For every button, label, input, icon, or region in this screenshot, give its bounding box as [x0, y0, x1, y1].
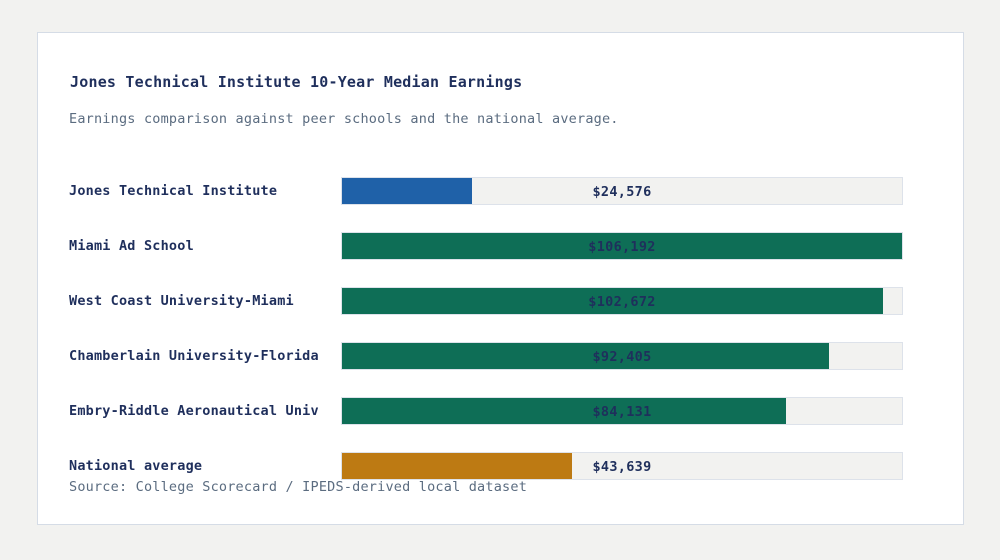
bar-value-label: $43,639: [342, 453, 902, 481]
page-title: Jones Technical Institute 10-Year Median…: [70, 73, 522, 91]
bar-value-label: $84,131: [342, 398, 902, 426]
bar-row: Jones Technical Institute$24,576: [38, 177, 963, 205]
bar-value-label: $92,405: [342, 343, 902, 371]
bar-row: Embry-Riddle Aeronautical Univ$84,131: [38, 397, 963, 425]
bar-value-label: $106,192: [342, 233, 902, 261]
bar-row-label: Chamberlain University-Florida: [69, 342, 341, 370]
bar-value-label: $24,576: [342, 178, 902, 206]
bar-track: $102,672: [341, 287, 903, 315]
bar-track: $43,639: [341, 452, 903, 480]
bar-track: $106,192: [341, 232, 903, 260]
chart-subtitle: Earnings comparison against peer schools…: [69, 111, 619, 127]
chart-card: Jones Technical Institute 10-Year Median…: [37, 32, 964, 525]
bar-row-label: Miami Ad School: [69, 232, 341, 260]
bar-track: $24,576: [341, 177, 903, 205]
bar-row: Chamberlain University-Florida$92,405: [38, 342, 963, 370]
bar-row-label: Jones Technical Institute: [69, 177, 341, 205]
bar-row: West Coast University-Miami$102,672: [38, 287, 963, 315]
bar-row-label: National average: [69, 452, 341, 480]
bar-row-label: West Coast University-Miami: [69, 287, 341, 315]
source-note: Source: College Scorecard / IPEDS-derive…: [69, 479, 527, 495]
bar-track: $84,131: [341, 397, 903, 425]
bar-row: National average$43,639: [38, 452, 963, 480]
bar-value-label: $102,672: [342, 288, 902, 316]
bar-row-label: Embry-Riddle Aeronautical Univ: [69, 397, 341, 425]
bar-row: Miami Ad School$106,192: [38, 232, 963, 260]
bar-track: $92,405: [341, 342, 903, 370]
